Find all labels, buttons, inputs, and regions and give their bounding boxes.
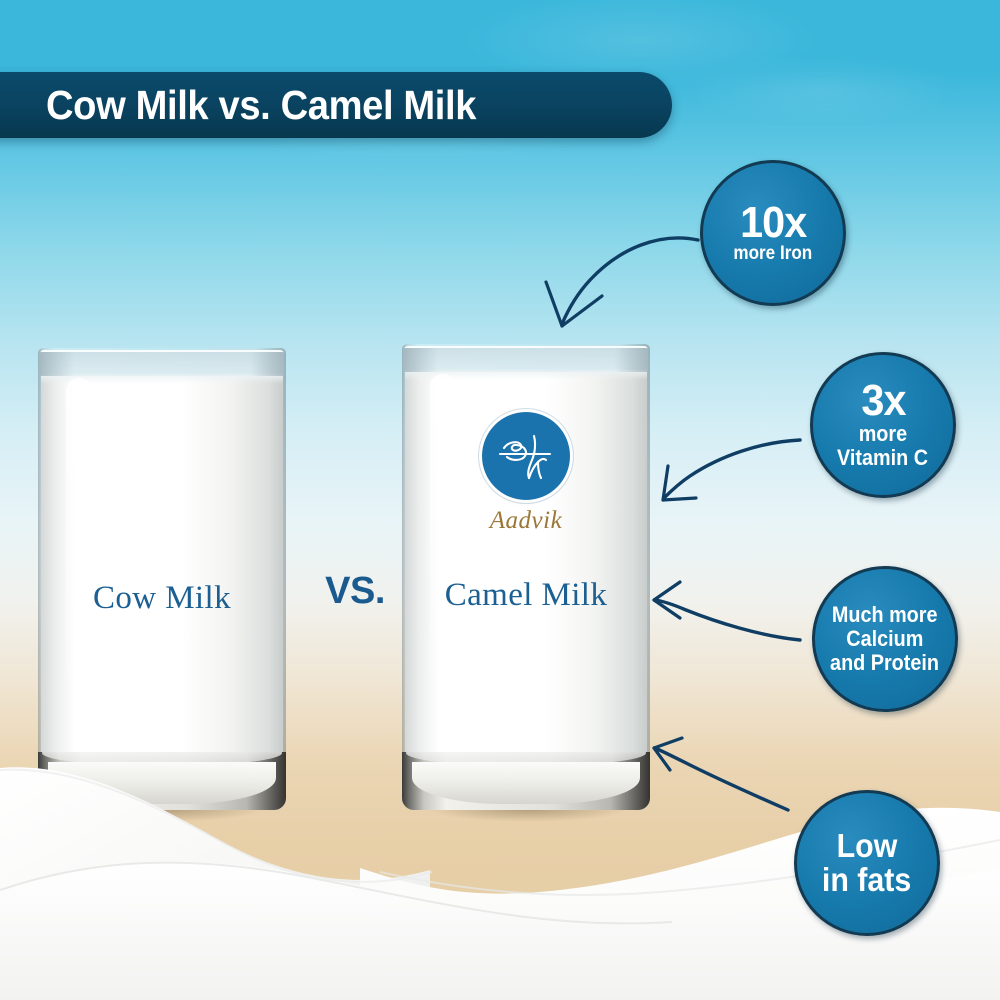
badge-fats-line1: Low <box>837 829 898 863</box>
cow-glass-highlight <box>66 378 92 678</box>
sky-texture <box>0 0 1000 360</box>
badge-vitc-caption-line1: more <box>859 422 907 446</box>
aadvik-logo: Aadvik <box>402 412 650 535</box>
badge-fats-line2: in fats <box>822 863 911 897</box>
infographic-canvas: Cow Milk vs. Camel Milk Cow Milk <box>0 0 1000 1000</box>
badge-calcium-line2: Calcium <box>846 627 923 651</box>
camel-glass-rim <box>404 346 648 372</box>
badge-calcium-protein[interactable]: Much more Calcium and Protein <box>812 566 958 712</box>
badge-low-in-fats[interactable]: Low in fats <box>794 790 940 936</box>
badge-iron-caption: more Iron <box>734 244 813 265</box>
aadvik-logo-circle <box>482 412 570 500</box>
badge-calcium-line3: and Protein <box>831 651 940 675</box>
camel-milk-label: Camel Milk <box>402 577 650 614</box>
badge-more-iron[interactable]: 10x more Iron <box>700 160 846 306</box>
badge-calcium-line1: Much more <box>832 603 938 627</box>
badge-vitc-caption-line2: Vitamin C <box>838 446 929 470</box>
cow-milk-label: Cow Milk <box>38 580 286 617</box>
badge-iron-value: 10x <box>740 202 806 244</box>
title-banner: Cow Milk vs. Camel Milk <box>0 72 672 138</box>
devanagari-monogram-icon <box>494 426 558 486</box>
badge-vitc-value: 3x <box>861 380 905 422</box>
page-title: Cow Milk vs. Camel Milk <box>46 82 476 129</box>
cow-glass-rim <box>40 350 284 376</box>
badge-more-vitamin-c[interactable]: 3x more Vitamin C <box>810 352 956 498</box>
versus-label: VS. <box>303 570 407 613</box>
aadvik-wordmark: Aadvik <box>490 507 562 535</box>
